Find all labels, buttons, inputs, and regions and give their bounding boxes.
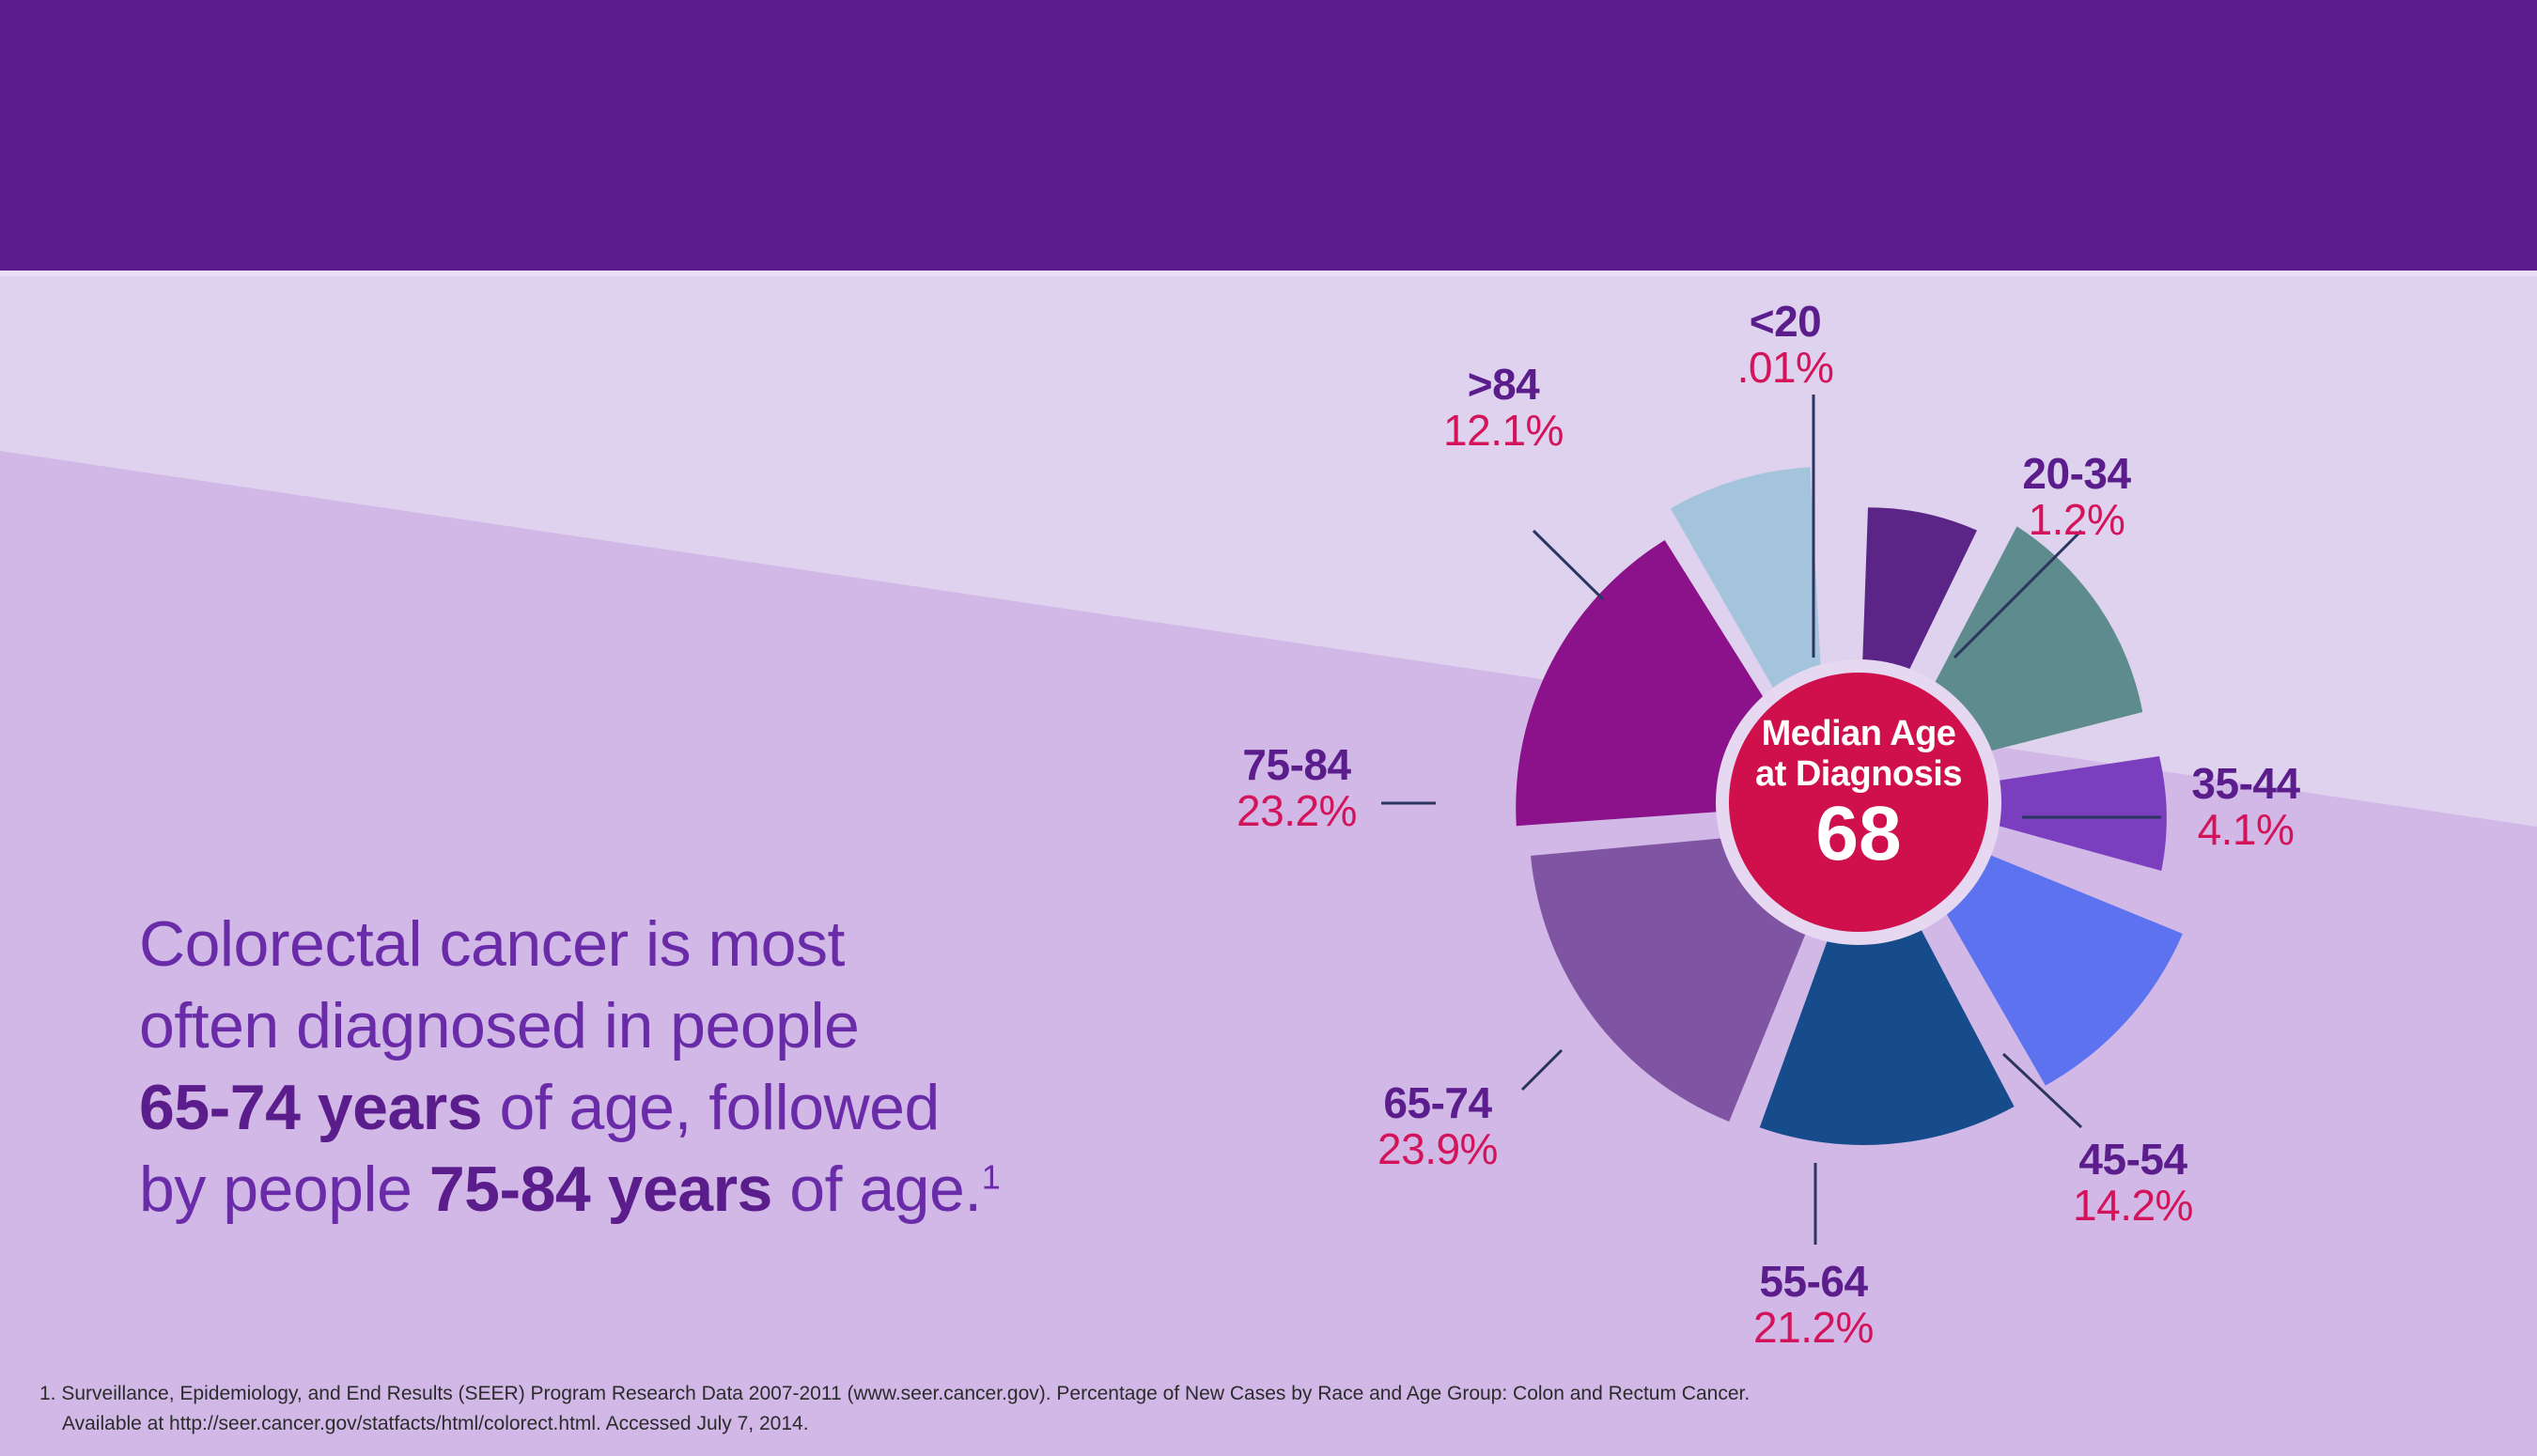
slice-age-gt84: >84 [1400,362,1607,408]
slice-pct-45-54: 14.2% [2025,1183,2241,1229]
center-circle [1729,673,1988,932]
slice-label-lt20: <20 .01% [1682,299,1889,391]
slice-age-65-74: 65-74 [1330,1080,1546,1126]
footnote-reference-marker: 1 [982,1157,1001,1196]
slice-age-lt20: <20 [1682,299,1889,345]
slice-pct-20-34: 1.2% [1969,497,2185,543]
summary-line-1: Colorectal cancer is most [139,908,845,980]
slice-age-35-44: 35-44 [2138,761,2354,807]
slice-label-gt84: >84 12.1% [1400,362,1607,454]
slice-label-20-34: 20-34 1.2% [1969,451,2185,543]
footnote-line-2: Available at http://seer.cancer.gov/stat… [39,1409,1750,1439]
slice-label-75-84: 75-84 23.2% [1189,742,1405,834]
slice-pct-gt84: 12.1% [1400,408,1607,454]
slice-pct-lt20: .01% [1682,345,1889,391]
summary-line-3: of age, followed [482,1072,940,1143]
slice-label-45-54: 45-54 14.2% [2025,1137,2241,1229]
summary-line-4: by people [139,1154,429,1225]
summary-highlight-75-84: 75-84 years [429,1154,772,1225]
summary-line-2: often diagnosed in people [139,990,859,1061]
footnote-line-1: 1. Surveillance, Epidemiology, and End R… [39,1379,1750,1409]
slice-label-35-44: 35-44 4.1% [2138,761,2354,853]
slice-pct-75-84: 23.2% [1189,788,1405,834]
summary-paragraph: Colorectal cancer is most often diagnose… [139,904,1295,1231]
infographic-canvas: Colorectal Cancer: Age at Diagnosis Colo… [0,0,2537,1456]
slice-label-55-64: 55-64 21.2% [1705,1259,1922,1351]
summary-line-5: of age. [772,1154,982,1225]
header-bar [0,0,2537,271]
slice-pct-65-74: 23.9% [1330,1126,1546,1172]
slice-age-45-54: 45-54 [2025,1137,2241,1183]
summary-highlight-65-74: 65-74 years [139,1072,482,1143]
header-divider-rule [0,271,2537,276]
center-medallion [1716,659,2001,945]
slice-age-20-34: 20-34 [1969,451,2185,497]
slice-age-75-84: 75-84 [1189,742,1405,788]
slice-pct-35-44: 4.1% [2138,807,2354,853]
slice-age-55-64: 55-64 [1705,1259,1922,1305]
slice-pct-55-64: 21.2% [1705,1305,1922,1351]
footnote-block: 1. Surveillance, Epidemiology, and End R… [39,1379,1750,1438]
slice-label-65-74: 65-74 23.9% [1330,1080,1546,1172]
